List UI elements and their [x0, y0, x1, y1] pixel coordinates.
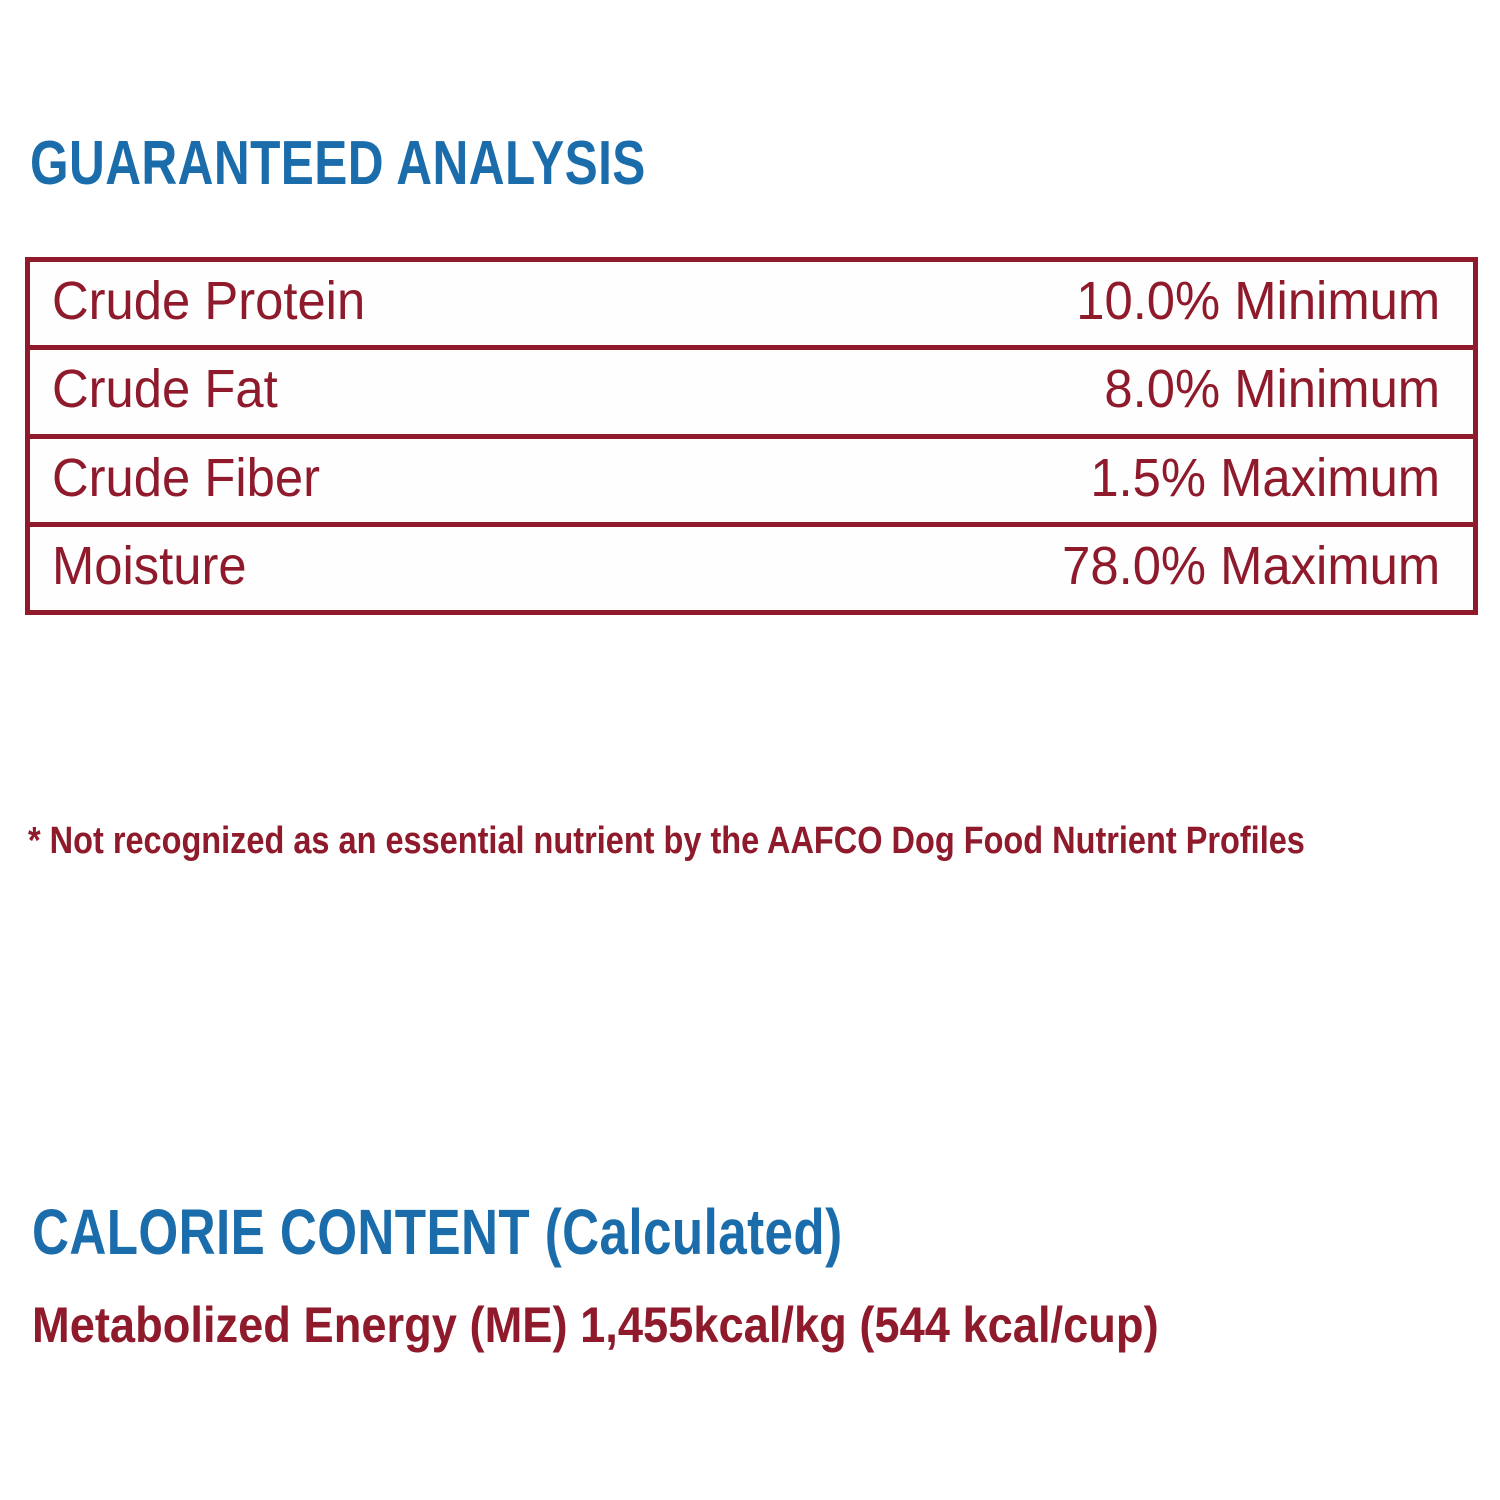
table-row: Crude Fiber 1.5% Maximum: [30, 439, 1473, 527]
nutrient-label: Crude Fiber: [52, 451, 320, 506]
calorie-content-heading: CALORIE CONTENT (Calculated): [32, 1200, 843, 1264]
nutrient-value: 10.0% Minimum: [1076, 274, 1440, 329]
nutrition-panel: GUARANTEED ANALYSIS Crude Protein 10.0% …: [0, 0, 1500, 1500]
nutrient-label: Crude Fat: [52, 362, 278, 417]
table-row: Moisture 78.0% Maximum: [30, 527, 1473, 610]
metabolized-energy-text: Metabolized Energy (ME) 1,455kcal/kg (54…: [32, 1300, 1159, 1350]
nutrient-value: 78.0% Maximum: [1062, 539, 1440, 594]
nutrient-label: Crude Protein: [52, 274, 365, 329]
guaranteed-analysis-heading: GUARANTEED ANALYSIS: [30, 133, 646, 195]
aafco-footnote: * Not recognized as an essential nutrien…: [28, 822, 1305, 860]
table-row: Crude Protein 10.0% Minimum: [30, 262, 1473, 350]
nutrient-value: 8.0% Minimum: [1104, 362, 1440, 417]
nutrient-label: Moisture: [52, 539, 247, 594]
table-row: Crude Fat 8.0% Minimum: [30, 350, 1473, 438]
nutrient-value: 1.5% Maximum: [1090, 451, 1440, 506]
guaranteed-analysis-table: Crude Protein 10.0% Minimum Crude Fat 8.…: [25, 257, 1478, 615]
